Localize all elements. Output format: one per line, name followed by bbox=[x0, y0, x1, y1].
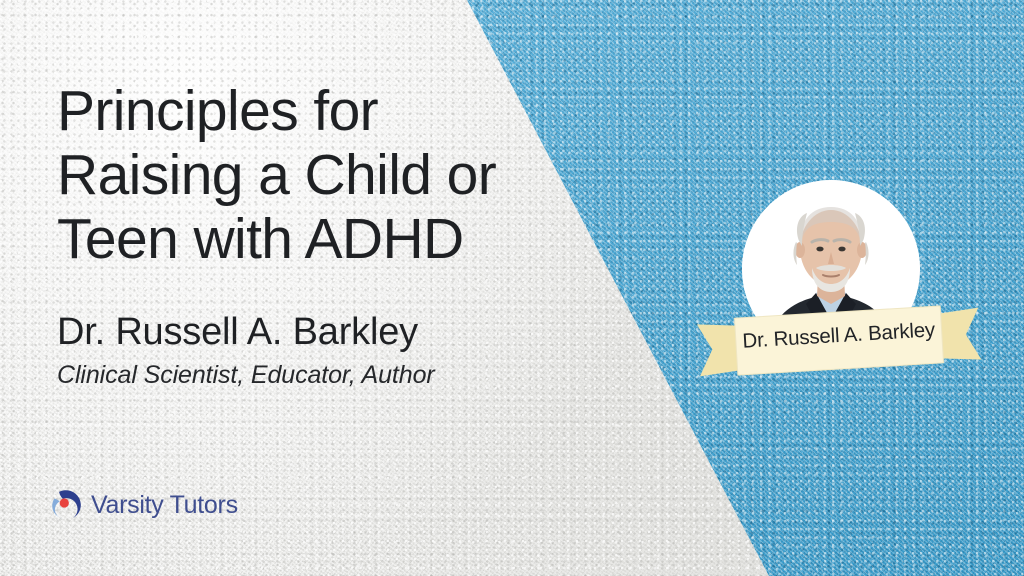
title-slide: Principles for Raising a Child or Teen w… bbox=[0, 0, 1024, 576]
varsity-tutors-logo[interactable]: Varsity Tutors bbox=[50, 489, 238, 521]
varsity-tutors-logo-text: Varsity Tutors bbox=[91, 491, 238, 520]
speaker-role: Clinical Scientist, Educator, Author bbox=[57, 361, 435, 390]
varsity-tutors-logo-mark-icon bbox=[50, 489, 82, 521]
speaker-name: Dr. Russell A. Barkley bbox=[57, 311, 418, 354]
page-title: Principles for Raising a Child or Teen w… bbox=[57, 80, 527, 271]
